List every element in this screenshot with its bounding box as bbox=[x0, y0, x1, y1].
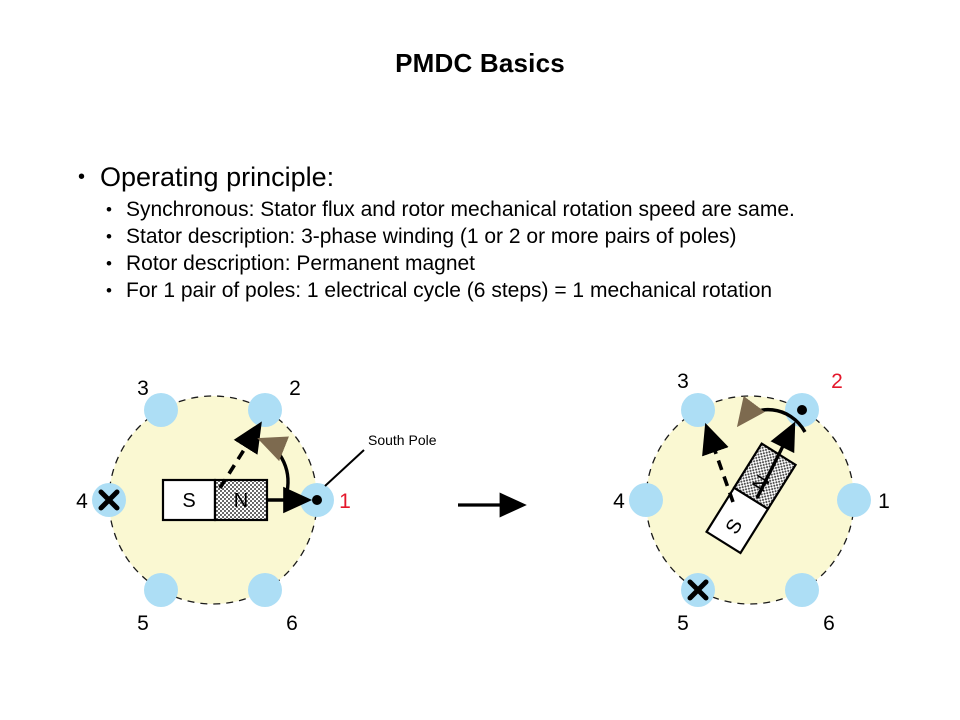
pole-label-3: 3 bbox=[137, 377, 149, 400]
bullet-text: Synchronous: Stator flux and rotor mecha… bbox=[126, 198, 795, 221]
pole-circle-1[interactable] bbox=[837, 483, 871, 517]
pole-label-4: 4 bbox=[76, 490, 88, 513]
pole-label-5: 5 bbox=[137, 612, 149, 635]
pole-dot-marker-2 bbox=[797, 405, 807, 415]
pole-label-6: 6 bbox=[286, 612, 298, 635]
slide-canvas: PMDC Basics • Operating principle: • Syn… bbox=[0, 0, 960, 720]
south-pole-annotation-leader bbox=[325, 450, 364, 486]
pole-label-2: 2 bbox=[289, 377, 301, 400]
bullet-marker: • bbox=[78, 160, 85, 194]
magnet-north-label: N bbox=[234, 490, 248, 512]
bullet-marker: • bbox=[106, 196, 112, 223]
pole-circle-6[interactable] bbox=[785, 573, 819, 607]
south-pole-annotation-label: South Pole bbox=[368, 432, 437, 448]
pole-circle-4[interactable] bbox=[629, 483, 663, 517]
bullet-level2-stator-description: • Stator description: 3-phase winding (1… bbox=[70, 223, 930, 250]
pole-label-6: 6 bbox=[823, 612, 835, 635]
pole-circle-6[interactable] bbox=[248, 573, 282, 607]
pole-circle-2[interactable] bbox=[248, 393, 282, 427]
bullet-level2-synchronous: • Synchronous: Stator flux and rotor mec… bbox=[70, 196, 930, 223]
page-title: PMDC Basics bbox=[0, 48, 960, 79]
pole-label-1: 1 bbox=[878, 490, 890, 513]
bullet-text: Operating principle: bbox=[100, 162, 334, 192]
diagram-left-step1: 1 2 3 4 5 6 bbox=[76, 377, 437, 635]
bullet-list: • Operating principle: • Synchronous: St… bbox=[70, 160, 930, 304]
bullet-marker: • bbox=[106, 277, 112, 304]
bullet-marker: • bbox=[106, 223, 112, 250]
pole-circle-3[interactable] bbox=[144, 393, 178, 427]
magnet-south-label: S bbox=[182, 490, 195, 512]
bullet-text: For 1 pair of poles: 1 electrical cycle … bbox=[126, 279, 772, 302]
pole-dot-marker-1 bbox=[312, 495, 322, 505]
pole-label-2: 2 bbox=[831, 370, 843, 393]
pole-circle-5[interactable] bbox=[144, 573, 178, 607]
bullet-text: Rotor description: Permanent magnet bbox=[126, 252, 475, 275]
rotor-magnet[interactable]: S N bbox=[163, 480, 267, 520]
diagram-right-step2: 1 2 3 4 5 6 bbox=[613, 370, 890, 635]
pole-label-1: 1 bbox=[339, 490, 351, 513]
bullet-level1-operating-principle: • Operating principle: bbox=[70, 160, 930, 194]
pole-label-3: 3 bbox=[677, 370, 689, 393]
bullet-marker: • bbox=[106, 250, 112, 277]
pole-circle-3[interactable] bbox=[681, 393, 715, 427]
bullet-level2-electrical-cycle: • For 1 pair of poles: 1 electrical cycl… bbox=[70, 277, 930, 304]
pole-label-4: 4 bbox=[613, 490, 625, 513]
pole-label-5: 5 bbox=[677, 612, 689, 635]
motor-diagrams: 1 2 3 4 5 6 bbox=[0, 350, 960, 660]
bullet-level2-rotor-description: • Rotor description: Permanent magnet bbox=[70, 250, 930, 277]
bullet-text: Stator description: 3-phase winding (1 o… bbox=[126, 225, 736, 248]
